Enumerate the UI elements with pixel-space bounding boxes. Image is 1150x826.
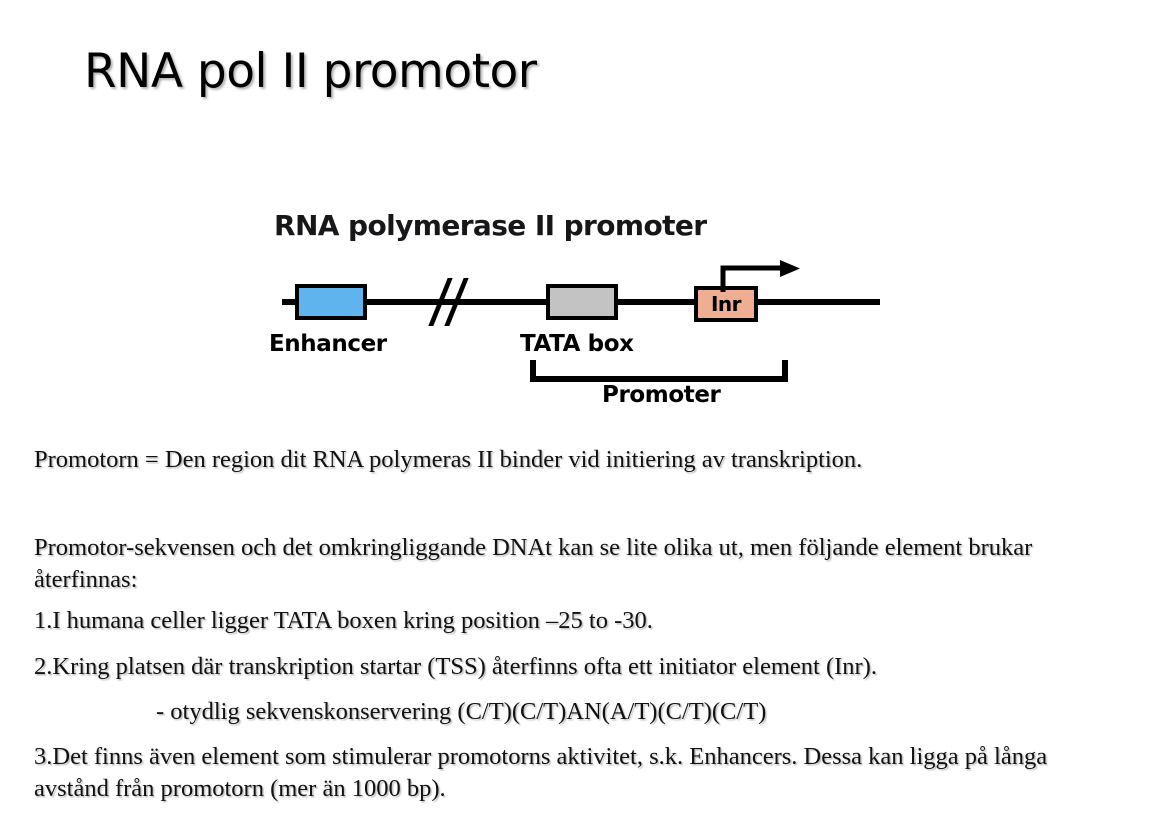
sequence-break-icon	[430, 278, 476, 326]
promoter-label: Promoter	[602, 382, 721, 408]
figure-title: RNA polymerase II promoter	[274, 209, 706, 242]
intro-paragraph: Promotor-sekvensen och det omkringliggan…	[34, 532, 1094, 597]
bracket-tick-right	[782, 360, 788, 382]
inr-box-label: Inr	[711, 294, 741, 314]
list-item-2-sub: - otydlig sekvenskonservering (C/T)(C/T)…	[156, 696, 1116, 728]
tata-box	[546, 284, 618, 320]
tata-box-label: TATA box	[520, 331, 634, 357]
enhancer-box	[295, 284, 367, 320]
promoter-diagram: RNA polymerase II promoter Inr Enhancer …	[0, 0, 1150, 430]
promoter-bracket	[530, 360, 788, 382]
transcription-start-site-arrow	[712, 258, 807, 292]
enhancer-label: Enhancer	[269, 331, 387, 357]
list-item-3: 3.Det finns även element som stimulerar …	[34, 741, 1119, 806]
definition-paragraph: Promotorn = Den region dit RNA polymeras…	[34, 444, 1114, 476]
list-item-1: 1.I humana celler ligger TATA boxen krin…	[34, 605, 1114, 637]
list-item-2: 2.Kring platsen där transkription starta…	[34, 651, 1114, 683]
